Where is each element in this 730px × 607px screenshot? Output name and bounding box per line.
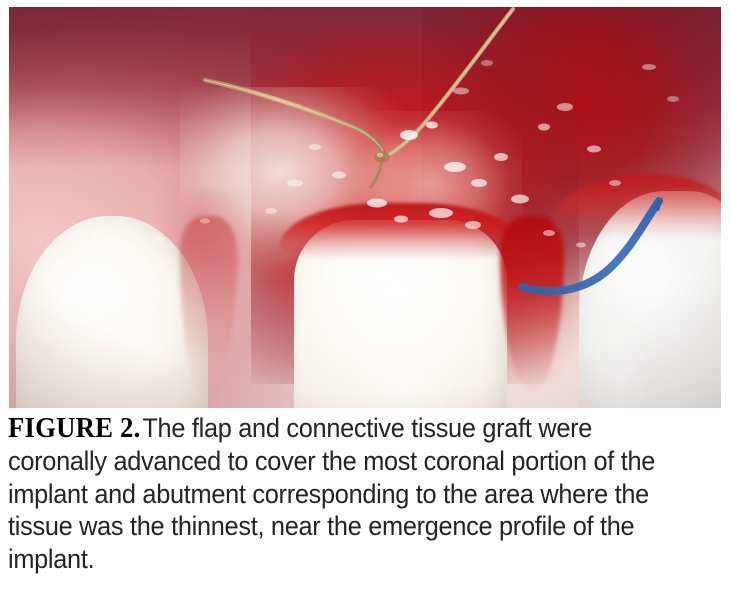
enamel-highlight [358,350,452,408]
figure-container: FIGURE 2.The flap and connective tissue … [0,0,730,607]
figure-caption-text: FIGURE 2.The flap and connective tissue … [8,412,690,575]
enamel-highlight [593,325,649,408]
clinical-photograph [9,7,721,408]
enamel-highlight [35,256,127,323]
enamel-highlight [324,243,444,303]
figure-caption: FIGURE 2.The flap and connective tissue … [8,412,722,575]
tooth-crown-central-implant-restoration [294,220,508,408]
figure-label: FIGURE 2. [8,413,140,444]
enamel-highlight [116,319,181,377]
photograph-canvas [9,7,721,408]
enamel-highlight [590,227,671,314]
